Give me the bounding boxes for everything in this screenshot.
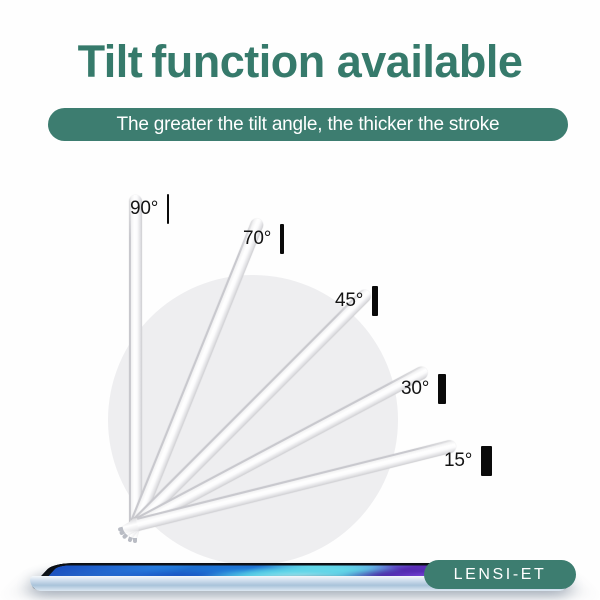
stylus-pen <box>129 195 142 525</box>
subtitle-text: The greater the tilt angle, the thicker … <box>117 114 500 136</box>
angle-value: 30° <box>401 378 429 400</box>
subtitle-banner: The greater the tilt angle, the thicker … <box>48 108 568 141</box>
stroke-thickness-bar <box>438 374 446 404</box>
angle-value: 45° <box>335 290 363 312</box>
angle-label-15: 15° <box>444 446 492 476</box>
angle-label-70: 70° <box>243 224 284 254</box>
brand-name: LENSI-ET <box>454 566 547 584</box>
angle-label-30: 30° <box>401 374 446 404</box>
page-title-part-two: function available <box>151 36 522 87</box>
page-title: Tiltfunction available <box>0 38 600 85</box>
product-feature-poster: Tiltfunction available The greater the t… <box>0 0 600 600</box>
angle-value: 90° <box>130 198 158 220</box>
angle-label-45: 45° <box>335 286 378 316</box>
stroke-thickness-bar <box>372 286 378 316</box>
angle-value: 70° <box>243 228 271 250</box>
stroke-thickness-bar <box>167 194 169 224</box>
stroke-thickness-bar <box>481 446 492 476</box>
brand-badge: LENSI-ET <box>424 560 576 589</box>
page-title-part-one: Tilt <box>78 36 143 87</box>
angle-label-90: 90° <box>130 194 169 224</box>
stroke-thickness-bar <box>280 224 284 254</box>
angle-value: 15° <box>444 450 472 472</box>
